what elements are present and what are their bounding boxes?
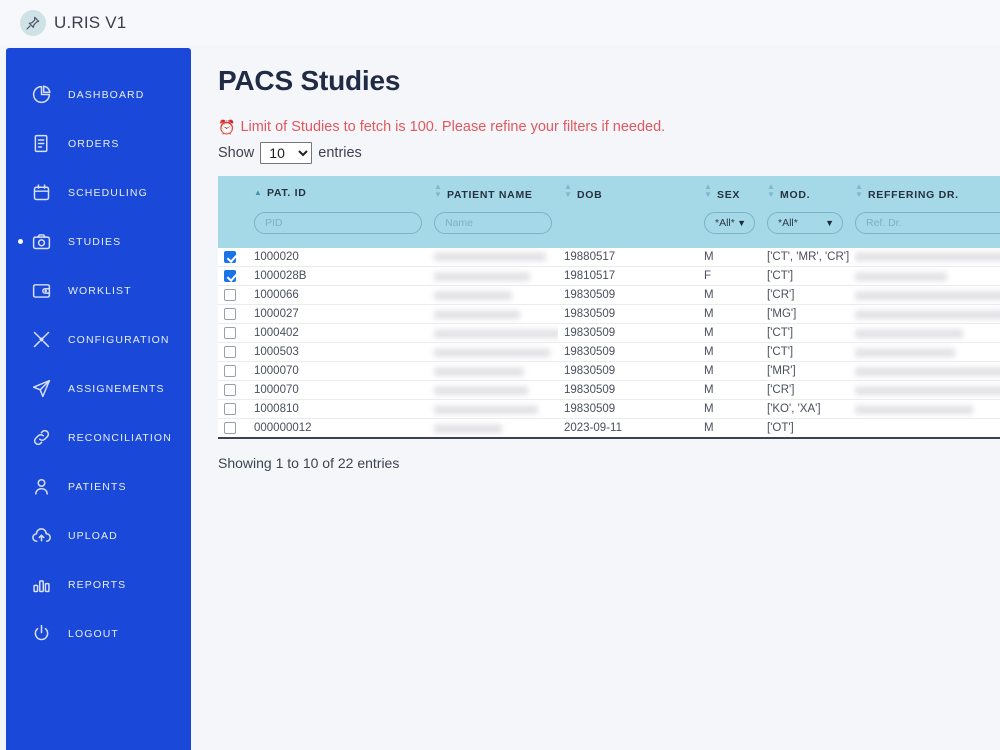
length-menu: Show 102550100 entries: [218, 142, 1000, 164]
redacted-referring-dr: [855, 272, 947, 281]
redacted-patient-name: [434, 405, 538, 414]
sidebar: DASHBOARDORDERSSCHEDULINGSTUDIESWORKLIST…: [6, 48, 191, 750]
sidebar-item-assignements[interactable]: ASSIGNEMENTS: [6, 364, 191, 413]
cell-dob: 19830509: [558, 324, 698, 343]
table-row[interactable]: 1000503 19830509M['CT']: [218, 343, 1000, 362]
cell-referring-dr: [849, 362, 1000, 381]
row-checkbox[interactable]: [224, 422, 236, 434]
cell-referring-dr: [849, 400, 1000, 419]
sort-both-icon: ▲▼: [767, 183, 776, 199]
sidebar-item-label: LOGOUT: [68, 628, 119, 640]
row-select-cell[interactable]: [218, 400, 248, 419]
sidebar-item-patients[interactable]: PATIENTS: [6, 462, 191, 511]
sidebar-item-label: SCHEDULING: [68, 187, 148, 199]
length-menu-prefix: Show: [218, 145, 254, 161]
column-header-label: PATIENT NAME: [447, 189, 533, 201]
sidebar-item-label: ASSIGNEMENTS: [68, 383, 165, 395]
redacted-referring-dr: [855, 252, 1000, 261]
redacted-patient-name: [434, 348, 550, 357]
sort-both-icon: ▲▼: [434, 183, 443, 199]
cell-pat-id: 1000020: [248, 248, 428, 267]
entries-per-page-select[interactable]: 102550100: [260, 142, 312, 164]
sidebar-item-logout[interactable]: LOGOUT: [6, 609, 191, 658]
sidebar-item-label: CONFIGURATION: [68, 334, 170, 346]
studies-table-body: 1000020 19880517M['CT', 'MR', 'CR'] 1000…: [218, 248, 1000, 438]
column-header-mod[interactable]: ▲▼MOD.: [761, 176, 849, 208]
cloud-upload-icon: [30, 525, 52, 547]
tools-icon: [30, 329, 52, 351]
redacted-referring-dr: [855, 386, 1000, 395]
table-row[interactable]: 1000070 19830509M['CR']: [218, 381, 1000, 400]
cell-pat-id: 1000027: [248, 305, 428, 324]
column-header-label: REFFERING DR.: [868, 189, 959, 201]
bar-chart-icon: [30, 574, 52, 596]
cell-modality: ['CT']: [761, 343, 849, 362]
cell-dob: 19880517: [558, 248, 698, 267]
sidebar-item-label: STUDIES: [68, 236, 121, 248]
cell-dob: 19830509: [558, 400, 698, 419]
sidebar-item-upload[interactable]: UPLOAD: [6, 511, 191, 560]
cell-patient-name: [428, 248, 558, 267]
table-filter-row: *All*MF▼*All*CTMRCRMGKOXAOT▼: [218, 208, 1000, 248]
cell-sex: M: [698, 286, 761, 305]
cell-patient-name: [428, 400, 558, 419]
document-icon: [30, 133, 52, 155]
table-row[interactable]: 1000810 19830509M['KO', 'XA']: [218, 400, 1000, 419]
cell-pat-id: 1000028B: [248, 267, 428, 286]
column-filter-name: [428, 208, 558, 248]
cell-dob: 19830509: [558, 343, 698, 362]
row-checkbox[interactable]: [224, 403, 236, 415]
row-select-cell[interactable]: [218, 362, 248, 381]
sidebar-item-label: PATIENTS: [68, 481, 127, 493]
cell-patient-name: [428, 362, 558, 381]
table-row[interactable]: 000000012 2023-09-11M['OT']: [218, 419, 1000, 439]
cell-pat-id: 1000070: [248, 362, 428, 381]
row-checkbox[interactable]: [224, 365, 236, 377]
redacted-patient-name: [434, 291, 512, 300]
studies-table: ▲PAT. ID▲▼PATIENT NAME▲▼DOB▲▼SEX▲▼MOD.▲▼…: [218, 176, 1000, 439]
filter-input-pat_id[interactable]: [254, 212, 422, 234]
redacted-patient-name: [434, 272, 530, 281]
cell-modality: ['CT']: [761, 324, 849, 343]
column-header-select: [218, 176, 248, 208]
studies-table-head: ▲PAT. ID▲▼PATIENT NAME▲▼DOB▲▼SEX▲▼MOD.▲▼…: [218, 176, 1000, 248]
cell-dob: 19830509: [558, 362, 698, 381]
column-filter-pat_id: [248, 208, 428, 248]
cell-patient-name: [428, 324, 558, 343]
calendar-icon: [30, 182, 52, 204]
row-select-cell[interactable]: [218, 343, 248, 362]
sidebar-item-reports[interactable]: REPORTS: [6, 560, 191, 609]
table-row[interactable]: 1000070 19830509M['MR']: [218, 362, 1000, 381]
sidebar-item-dashboard[interactable]: DASHBOARD: [6, 70, 191, 119]
redacted-patient-name: [434, 367, 524, 376]
column-filter-select: [218, 208, 248, 248]
row-checkbox[interactable]: [224, 384, 236, 396]
row-checkbox[interactable]: [224, 346, 236, 358]
cell-sex: M: [698, 362, 761, 381]
sidebar-item-label: ORDERS: [68, 138, 120, 150]
cell-patient-name: [428, 343, 558, 362]
redacted-referring-dr: [855, 310, 1000, 319]
brand-name: U.RIS V1: [54, 13, 126, 33]
redacted-patient-name: [434, 329, 558, 338]
cell-patient-name: [428, 381, 558, 400]
table-row[interactable]: 1000028B 19810517F['CT']: [218, 267, 1000, 286]
table-row[interactable]: 1000402 19830509M['CT']: [218, 324, 1000, 343]
cell-referring-dr: [849, 324, 1000, 343]
cell-pat-id: 1000066: [248, 286, 428, 305]
page-title: PACS Studies: [218, 65, 1000, 97]
main-content: PACS Studies ⏰ Limit of Studies to fetch…: [191, 45, 1000, 750]
redacted-referring-dr: [855, 367, 1000, 376]
cell-sex: M: [698, 248, 761, 267]
camera-icon: [30, 231, 52, 253]
column-header-label: MOD.: [780, 189, 810, 201]
cell-pat-id: 1000810: [248, 400, 428, 419]
power-icon: [30, 623, 52, 645]
filter-select-sex[interactable]: *All*MF: [704, 212, 755, 234]
redacted-patient-name: [434, 252, 546, 261]
cell-sex: M: [698, 400, 761, 419]
sidebar-item-orders[interactable]: ORDERS: [6, 119, 191, 168]
redacted-referring-dr: [855, 405, 973, 414]
cell-sex: M: [698, 305, 761, 324]
column-header-name[interactable]: ▲▼PATIENT NAME: [428, 176, 558, 208]
cell-referring-dr: [849, 381, 1000, 400]
row-checkbox[interactable]: [224, 289, 236, 301]
sidebar-item-label: DASHBOARD: [68, 89, 144, 101]
cell-modality: ['CT']: [761, 267, 849, 286]
column-filter-sex: *All*MF▼: [698, 208, 761, 248]
cell-modality: ['CR']: [761, 286, 849, 305]
column-header-label: DOB: [577, 189, 602, 201]
table-header-row: ▲PAT. ID▲▼PATIENT NAME▲▼DOB▲▼SEX▲▼MOD.▲▼…: [218, 176, 1000, 208]
column-header-sex[interactable]: ▲▼SEX: [698, 176, 761, 208]
cell-pat-id: 1000402: [248, 324, 428, 343]
cell-sex: M: [698, 381, 761, 400]
column-filter-dob: [558, 208, 698, 248]
sidebar-item-worklist[interactable]: WORKLIST: [6, 266, 191, 315]
row-select-cell[interactable]: [218, 305, 248, 324]
sort-both-icon: ▲▼: [564, 183, 573, 199]
redacted-referring-dr: [855, 291, 1000, 300]
row-select-cell[interactable]: [218, 419, 248, 439]
sort-asc-icon: ▲: [254, 189, 263, 197]
send-icon: [30, 378, 52, 400]
column-header-ref_dr[interactable]: ▲▼REFFERING DR.: [849, 176, 1000, 208]
cell-modality: ['KO', 'XA']: [761, 400, 849, 419]
row-select-cell[interactable]: [218, 381, 248, 400]
pushpin-icon: [20, 10, 46, 36]
cell-pat-id: 000000012: [248, 419, 428, 439]
sidebar-item-label: REPORTS: [68, 579, 126, 591]
table-row[interactable]: 1000027 19830509M['MG']: [218, 305, 1000, 324]
column-header-label: PAT. ID: [267, 187, 307, 199]
sort-both-icon: ▲▼: [704, 183, 713, 199]
table-row[interactable]: 1000020 19880517M['CT', 'MR', 'CR']: [218, 248, 1000, 267]
redacted-patient-name: [434, 424, 502, 433]
cell-referring-dr: [849, 419, 1000, 439]
cell-dob: 2023-09-11: [558, 419, 698, 439]
length-menu-suffix: entries: [318, 145, 362, 161]
table-info: Showing 1 to 10 of 22 entries: [218, 455, 1000, 471]
cell-sex: F: [698, 267, 761, 286]
cell-modality: ['OT']: [761, 419, 849, 439]
cell-modality: ['MR']: [761, 362, 849, 381]
cell-patient-name: [428, 267, 558, 286]
row-select-cell[interactable]: [218, 248, 248, 267]
column-filter-ref_dr: [849, 208, 1000, 248]
cell-dob: 19830509: [558, 286, 698, 305]
cell-patient-name: [428, 286, 558, 305]
cell-patient-name: [428, 419, 558, 439]
cell-modality: ['MG']: [761, 305, 849, 324]
active-indicator-dot: [18, 239, 23, 244]
cell-referring-dr: [849, 267, 1000, 286]
cell-pat-id: 1000503: [248, 343, 428, 362]
redacted-patient-name: [434, 310, 520, 319]
alarm-clock-icon: ⏰: [218, 120, 235, 134]
cell-referring-dr: [849, 248, 1000, 267]
filter-input-ref_dr[interactable]: [855, 212, 1000, 234]
column-header-pat_id[interactable]: ▲PAT. ID: [248, 176, 428, 208]
cell-dob: 19810517: [558, 267, 698, 286]
row-checkbox[interactable]: [224, 251, 236, 263]
cell-modality: ['CT', 'MR', 'CR']: [761, 248, 849, 267]
redacted-referring-dr: [855, 348, 955, 357]
column-filter-mod: *All*CTMRCRMGKOXAOT▼: [761, 208, 849, 248]
link-icon: [30, 427, 52, 449]
cell-dob: 19830509: [558, 305, 698, 324]
sidebar-item-label: UPLOAD: [68, 530, 118, 542]
column-header-dob[interactable]: ▲▼DOB: [558, 176, 698, 208]
pacs-studies-page: U.RIS V1 DASHBOARDORDERSSCHEDULINGSTUDIE…: [0, 0, 1000, 750]
sort-both-icon: ▲▼: [855, 183, 864, 199]
wallet-icon: [30, 280, 52, 302]
redacted-patient-name: [434, 386, 528, 395]
row-checkbox[interactable]: [224, 270, 236, 282]
sidebar-item-studies[interactable]: STUDIES: [6, 217, 191, 266]
row-checkbox[interactable]: [224, 308, 236, 320]
sidebar-item-label: RECONCILIATION: [68, 432, 172, 444]
cell-sex: M: [698, 419, 761, 439]
cell-referring-dr: [849, 305, 1000, 324]
row-select-cell[interactable]: [218, 286, 248, 305]
limit-warning-text: Limit of Studies to fetch is 100. Please…: [240, 119, 665, 135]
cell-referring-dr: [849, 343, 1000, 362]
cell-modality: ['CR']: [761, 381, 849, 400]
row-select-cell[interactable]: [218, 324, 248, 343]
filter-input-name[interactable]: [434, 212, 552, 234]
table-row[interactable]: 1000066 19830509M['CR']: [218, 286, 1000, 305]
user-icon: [30, 476, 52, 498]
sidebar-item-configuration[interactable]: CONFIGURATION: [6, 315, 191, 364]
row-select-cell[interactable]: [218, 267, 248, 286]
cell-pat-id: 1000070: [248, 381, 428, 400]
pie-chart-icon: [30, 84, 52, 106]
column-header-label: SEX: [717, 189, 740, 201]
cell-referring-dr: [849, 286, 1000, 305]
cell-sex: M: [698, 343, 761, 362]
sidebar-item-label: WORKLIST: [68, 285, 132, 297]
filter-select-mod[interactable]: *All*CTMRCRMGKOXAOT: [767, 212, 843, 234]
sidebar-item-reconciliation[interactable]: RECONCILIATION: [6, 413, 191, 462]
brand-bar: U.RIS V1: [0, 0, 1000, 45]
studies-table-wrapper: ▲PAT. ID▲▼PATIENT NAME▲▼DOB▲▼SEX▲▼MOD.▲▼…: [218, 176, 1000, 439]
row-checkbox[interactable]: [224, 327, 236, 339]
cell-patient-name: [428, 305, 558, 324]
limit-warning: ⏰ Limit of Studies to fetch is 100. Plea…: [218, 119, 1000, 135]
sidebar-item-scheduling[interactable]: SCHEDULING: [6, 168, 191, 217]
redacted-referring-dr: [855, 329, 963, 338]
cell-sex: M: [698, 324, 761, 343]
cell-dob: 19830509: [558, 381, 698, 400]
